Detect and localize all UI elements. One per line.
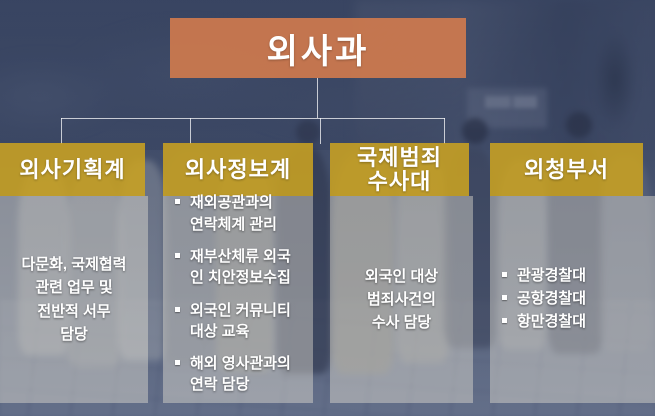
column-body-2: 재외공관과의 연락체계 관리 재부산체류 외국 인 치안정보수집 외국인 커뮤니… (163, 196, 313, 403)
chart-title-box: 외사과 (170, 18, 466, 78)
connector-drop-1 (61, 118, 62, 144)
square-bullet-icon (175, 199, 180, 204)
org-column-1: 외사기획계 다문화, 국제협력 관련 업무 및 전반적 서무 담당 (0, 143, 148, 403)
org-column-3: 국제범죄 수사대 외국인 대상 범죄사건의 수사 담당 (330, 143, 473, 403)
column-header-label-2: 외사정보계 (181, 158, 295, 181)
column-body-3: 외국인 대상 범죄사건의 수사 담당 (330, 196, 473, 403)
list-item: 항만경찰대 (502, 311, 649, 332)
bullet-text: 해외 영사관과의 연락 담당 (190, 355, 291, 393)
list-item: 관광경찰대 (502, 265, 649, 286)
bullet-text: 공항경찰대 (517, 290, 586, 307)
list-item: 외국인 커뮤니티 대상 교육 (175, 300, 307, 343)
org-column-4: 외청부서 관광경찰대 공항경찰대 항만경찰대 (490, 143, 655, 403)
connector-drop-4 (444, 118, 445, 144)
bullet-text: 재부산체류 외국 인 치안정보수집 (190, 248, 291, 286)
column-body-4: 관광경찰대 공항경찰대 항만경찰대 (490, 196, 655, 403)
bullet-text: 관광경찰대 (517, 267, 586, 284)
square-bullet-icon (502, 272, 507, 277)
square-bullet-icon (502, 318, 507, 323)
square-bullet-icon (502, 295, 507, 300)
bullet-text: 항만경찰대 (517, 313, 586, 330)
connector-trunk-vertical (317, 78, 318, 118)
square-bullet-icon (175, 307, 180, 312)
column-bullet-list-2: 재외공관과의 연락체계 관리 재부산체류 외국 인 치안정보수집 외국인 커뮤니… (163, 192, 313, 406)
column-paragraph-3: 외국인 대상 범죄사건의 수사 담당 (330, 265, 473, 335)
square-bullet-icon (175, 253, 180, 258)
list-item: 재부산체류 외국 인 치안정보수집 (175, 246, 307, 289)
connector-drop-2 (190, 118, 191, 144)
square-bullet-icon (175, 360, 180, 365)
column-header-label-3: 국제범죄 수사대 (353, 146, 446, 192)
bullet-text: 재외공관과의 연락체계 관리 (190, 194, 277, 232)
connector-horizontal-bus (61, 118, 445, 119)
list-item: 재외공관과의 연락체계 관리 (175, 192, 307, 235)
chart-title: 외사과 (267, 24, 370, 73)
column-header-label-4: 외청부서 (520, 158, 613, 181)
column-header-3: 국제범죄 수사대 (330, 143, 469, 196)
list-item: 공항경찰대 (502, 288, 649, 309)
column-header-4: 외청부서 (490, 143, 643, 196)
connector-drop-3 (320, 118, 321, 144)
column-header-2: 외사정보계 (163, 143, 313, 196)
column-header-label-1: 외사기획계 (15, 158, 129, 181)
org-column-2: 외사정보계 재외공관과의 연락체계 관리 재부산체류 외국 인 치안정보수집 외… (163, 143, 313, 403)
org-chart-slide: 외사과 외사기획계 다문화, 국제협력 관련 업무 및 전반적 서무 담당 외사… (0, 0, 655, 416)
list-item: 해외 영사관과의 연락 담당 (175, 353, 307, 396)
bullet-text: 외국인 커뮤니티 대상 교육 (190, 302, 291, 340)
column-body-1: 다문화, 국제협력 관련 업무 및 전반적 서무 담당 (0, 196, 148, 403)
column-header-1: 외사기획계 (0, 143, 145, 196)
column-bullet-list-4: 관광경찰대 공항경찰대 항만경찰대 (490, 265, 655, 335)
column-paragraph-1: 다문화, 국제협력 관련 업무 및 전반적 서무 담당 (0, 253, 148, 346)
